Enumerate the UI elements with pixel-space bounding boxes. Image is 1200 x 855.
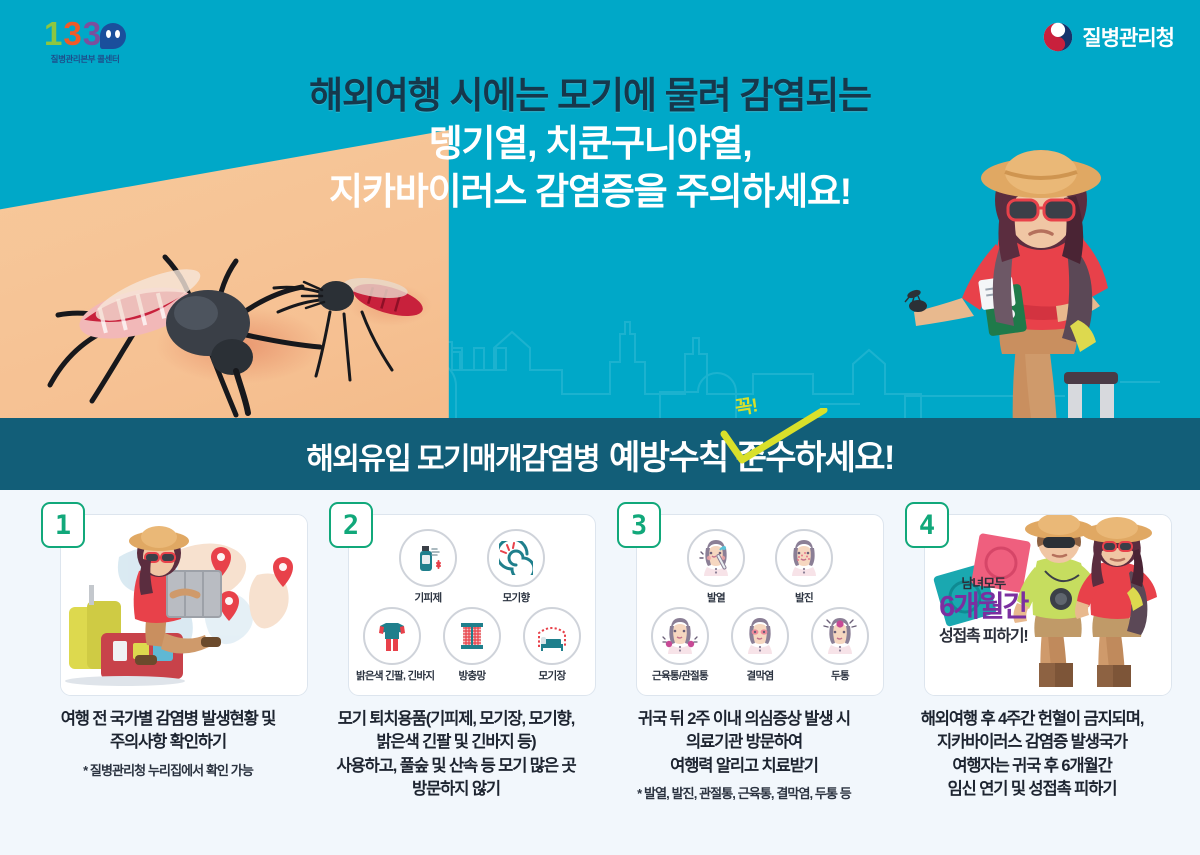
card-2[interactable]: 2: [316, 496, 596, 855]
card-4[interactable]: 4: [892, 496, 1172, 855]
check-mark-accent-icon: [718, 408, 830, 470]
banner-lead: 해외유입 모기매개감염병: [306, 443, 599, 476]
card-1-number: 1: [41, 502, 85, 548]
card-4-title-line-3: 여행자는 귀국 후 6개월간: [892, 755, 1172, 778]
card-2-number: 2: [329, 502, 373, 548]
card-2-icon-grid: 기피제 모기향: [349, 515, 595, 695]
card-4-overlay-small: 남녀모두: [939, 573, 1028, 592]
icon-cell-clothing: 밝은색 긴팔, 긴바지: [356, 607, 428, 683]
icon-cell-screen: 방충망: [436, 607, 508, 683]
card-3-number: 3: [617, 502, 661, 548]
card-3-title-line-2: 의료기관 방문하여: [604, 731, 884, 754]
card-1-title-line-2: 주의사항 확인하기: [28, 731, 308, 754]
prevention-banner: 해외유입 모기매개감염병예방수칙 준수하세요!: [0, 418, 1200, 490]
logo-1339-digits: 133: [44, 17, 126, 50]
card-3-thumbnail: 발열: [636, 514, 884, 696]
icon-cell-bednet: 모기장: [516, 607, 588, 683]
suitcase-icon: [1052, 372, 1170, 418]
card-2-title-line-3: 사용하고, 풀숲 및 산속 등 모기 많은 곳: [316, 755, 596, 778]
card-1[interactable]: 1: [28, 496, 308, 855]
card-2-thumbnail: 기피제 모기향: [348, 514, 596, 696]
logo-kdca: 질병관리청: [1043, 22, 1174, 52]
chat-bubble-icon: [100, 23, 126, 49]
main-headline: 해외여행 시에는 모기에 물려 감염되는 뎅기열, 치쿤구니야열, 지카바이러스…: [210, 72, 970, 216]
card-3-title-line-3: 여행력 알리고 치료받기: [604, 755, 884, 778]
card-4-overlay-big: 6개월간: [939, 592, 1028, 622]
card-3-note: * 발열, 발진, 관절통, 근육통, 결막염, 두통 등: [604, 783, 884, 802]
icon-cell-repellent: 기피제: [392, 529, 464, 605]
traveler-map-illustration: [61, 515, 308, 696]
card-3-icon-grid: 발열: [637, 515, 883, 695]
card-4-overlay-mid: 성접촉 피하기!: [939, 622, 1028, 646]
mosquito-small-illustration: [258, 248, 448, 398]
taegeuk-icon: [1043, 22, 1073, 52]
card-3-icon-row-1: 발열: [643, 529, 877, 605]
icon-label-conjunctivitis: 결막염: [724, 668, 796, 683]
card-2-icon-row-2: 밝은색 긴팔, 긴바지: [355, 607, 589, 683]
bed-net-icon: [523, 607, 581, 665]
card-4-body: 해외여행 후 4주간 헌혈이 금지되며, 지카바이러스 감염증 발생국가 여행자…: [892, 708, 1172, 802]
card-3[interactable]: 3: [604, 496, 884, 855]
card-2-icon-row-1: 기피제 모기향: [355, 529, 589, 605]
icon-label-screen: 방충망: [436, 668, 508, 683]
card-1-note: * 질병관리청 누리집에서 확인 가능: [28, 760, 308, 779]
icon-cell-conjunctivitis: 결막염: [724, 607, 796, 683]
icon-cell-headache: 두통: [804, 607, 876, 683]
card-4-title-line-2: 지카바이러스 감염증 발생국가: [892, 731, 1172, 754]
conjunctivitis-icon: [731, 607, 789, 665]
icon-label-repellent: 기피제: [392, 590, 464, 605]
icon-cell-coil: 모기향: [480, 529, 552, 605]
fever-thermometer-icon: [687, 529, 745, 587]
card-3-icon-row-2: 근육통/관절통: [643, 607, 877, 683]
headline-line-2: 뎅기열, 치쿤구니야열,: [210, 120, 970, 168]
poster-root: 133 질병관리본부 콜센터 질병관리청: [0, 0, 1200, 855]
card-1-body: 여행 전 국가별 감염병 발생현황 및 주의사항 확인하기 * 질병관리청 누리…: [28, 708, 308, 779]
headache-icon: [811, 607, 869, 665]
muscle-joint-pain-icon: [651, 607, 709, 665]
icon-cell-fever: 발열: [680, 529, 752, 605]
icon-label-fever: 발열: [680, 590, 752, 605]
window-screen-icon: [443, 607, 501, 665]
kkok-stamp-text: 꼭!: [733, 390, 759, 420]
rash-face-icon: [775, 529, 833, 587]
card-4-title-line-1: 해외여행 후 4주간 헌혈이 금지되며,: [892, 708, 1172, 731]
icon-cell-muscle-joint: 근육통/관절통: [644, 607, 716, 683]
logo-1339: 133 질병관리본부 콜센터: [44, 17, 126, 65]
spray-can-icon: [399, 529, 457, 587]
card-4-number: 4: [905, 502, 949, 548]
card-3-body: 귀국 뒤 2주 이내 의심증상 발생 시 의료기관 방문하여 여행력 알리고 치…: [604, 708, 884, 802]
card-2-title-line-2: 밝은색 긴팔 및 긴바지 등): [316, 731, 596, 754]
icon-label-rash: 발진: [768, 590, 840, 605]
icon-label-muscle-joint: 근육통/관절통: [644, 668, 716, 683]
card-4-overlay: 남녀모두 6개월간 성접촉 피하기!: [939, 573, 1028, 646]
icon-cell-rash: 발진: [768, 529, 840, 605]
prevention-cards: 1: [0, 496, 1200, 855]
card-1-title-line-1: 여행 전 국가별 감염병 발생현황 및: [28, 708, 308, 731]
icon-label-bednet: 모기장: [516, 668, 588, 683]
card-1-thumbnail: [60, 514, 308, 696]
card-2-title-line-4: 방문하지 않기: [316, 778, 596, 801]
logo-1339-subtitle: 질병관리본부 콜센터: [44, 53, 126, 65]
logo-kdca-name: 질병관리청: [1082, 22, 1174, 52]
card-2-body: 모기 퇴치용품(기피제, 모기장, 모기향, 밝은색 긴팔 및 긴바지 등) 사…: [316, 708, 596, 802]
card-4-title-line-4: 임신 연기 및 성접촉 피하기: [892, 778, 1172, 801]
card-4-thumbnail: 남녀모두 6개월간 성접촉 피하기!: [924, 514, 1172, 696]
card-2-title-line-1: 모기 퇴치용품(기피제, 모기장, 모기향,: [316, 708, 596, 731]
headline-line-3: 지카바이러스 감염증을 주의하세요!: [210, 168, 970, 216]
icon-label-clothing: 밝은색 긴팔, 긴바지: [356, 668, 428, 683]
headline-line-1: 해외여행 시에는 모기에 물려 감염되는: [210, 72, 970, 120]
long-sleeve-clothing-icon: [363, 607, 421, 665]
mosquito-coil-icon: [487, 529, 545, 587]
icon-label-coil: 모기향: [480, 590, 552, 605]
icon-label-headache: 두통: [804, 668, 876, 683]
card-3-title-line-1: 귀국 뒤 2주 이내 의심증상 발생 시: [604, 708, 884, 731]
